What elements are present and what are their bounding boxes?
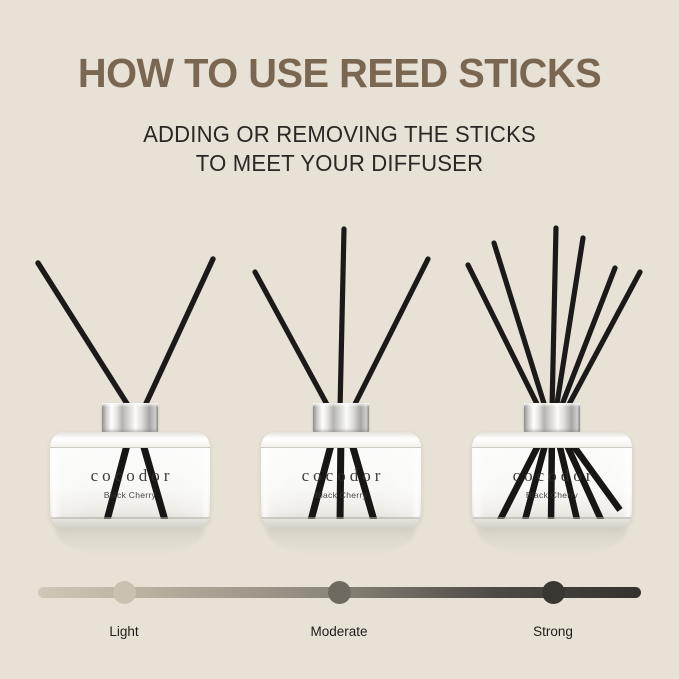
bottle-brand-strong: cocodor [472, 466, 632, 486]
bottle-glass-strong: cocodor Black Cherry [472, 432, 632, 528]
glass-base-strong [472, 519, 632, 528]
reed-sticks-strong [0, 0, 679, 679]
diffuser-bottle-row: cocodor Black Cherry [0, 0, 679, 679]
slider-dot-moderate[interactable] [328, 581, 351, 604]
slider-label-strong: Strong [493, 624, 613, 639]
infographic-canvas: HOW TO USE REED STICKS ADDING OR REMOVIN… [0, 0, 679, 679]
slider-label-moderate: Moderate [279, 624, 399, 639]
bottle-collar-strong [524, 403, 580, 433]
bottle-scent-strong: Black Cherry [472, 490, 632, 500]
slider-dot-light[interactable] [113, 581, 136, 604]
slider-label-light: Light [64, 624, 184, 639]
slider-dot-strong[interactable] [542, 581, 565, 604]
glass-rim-strong [472, 432, 632, 448]
